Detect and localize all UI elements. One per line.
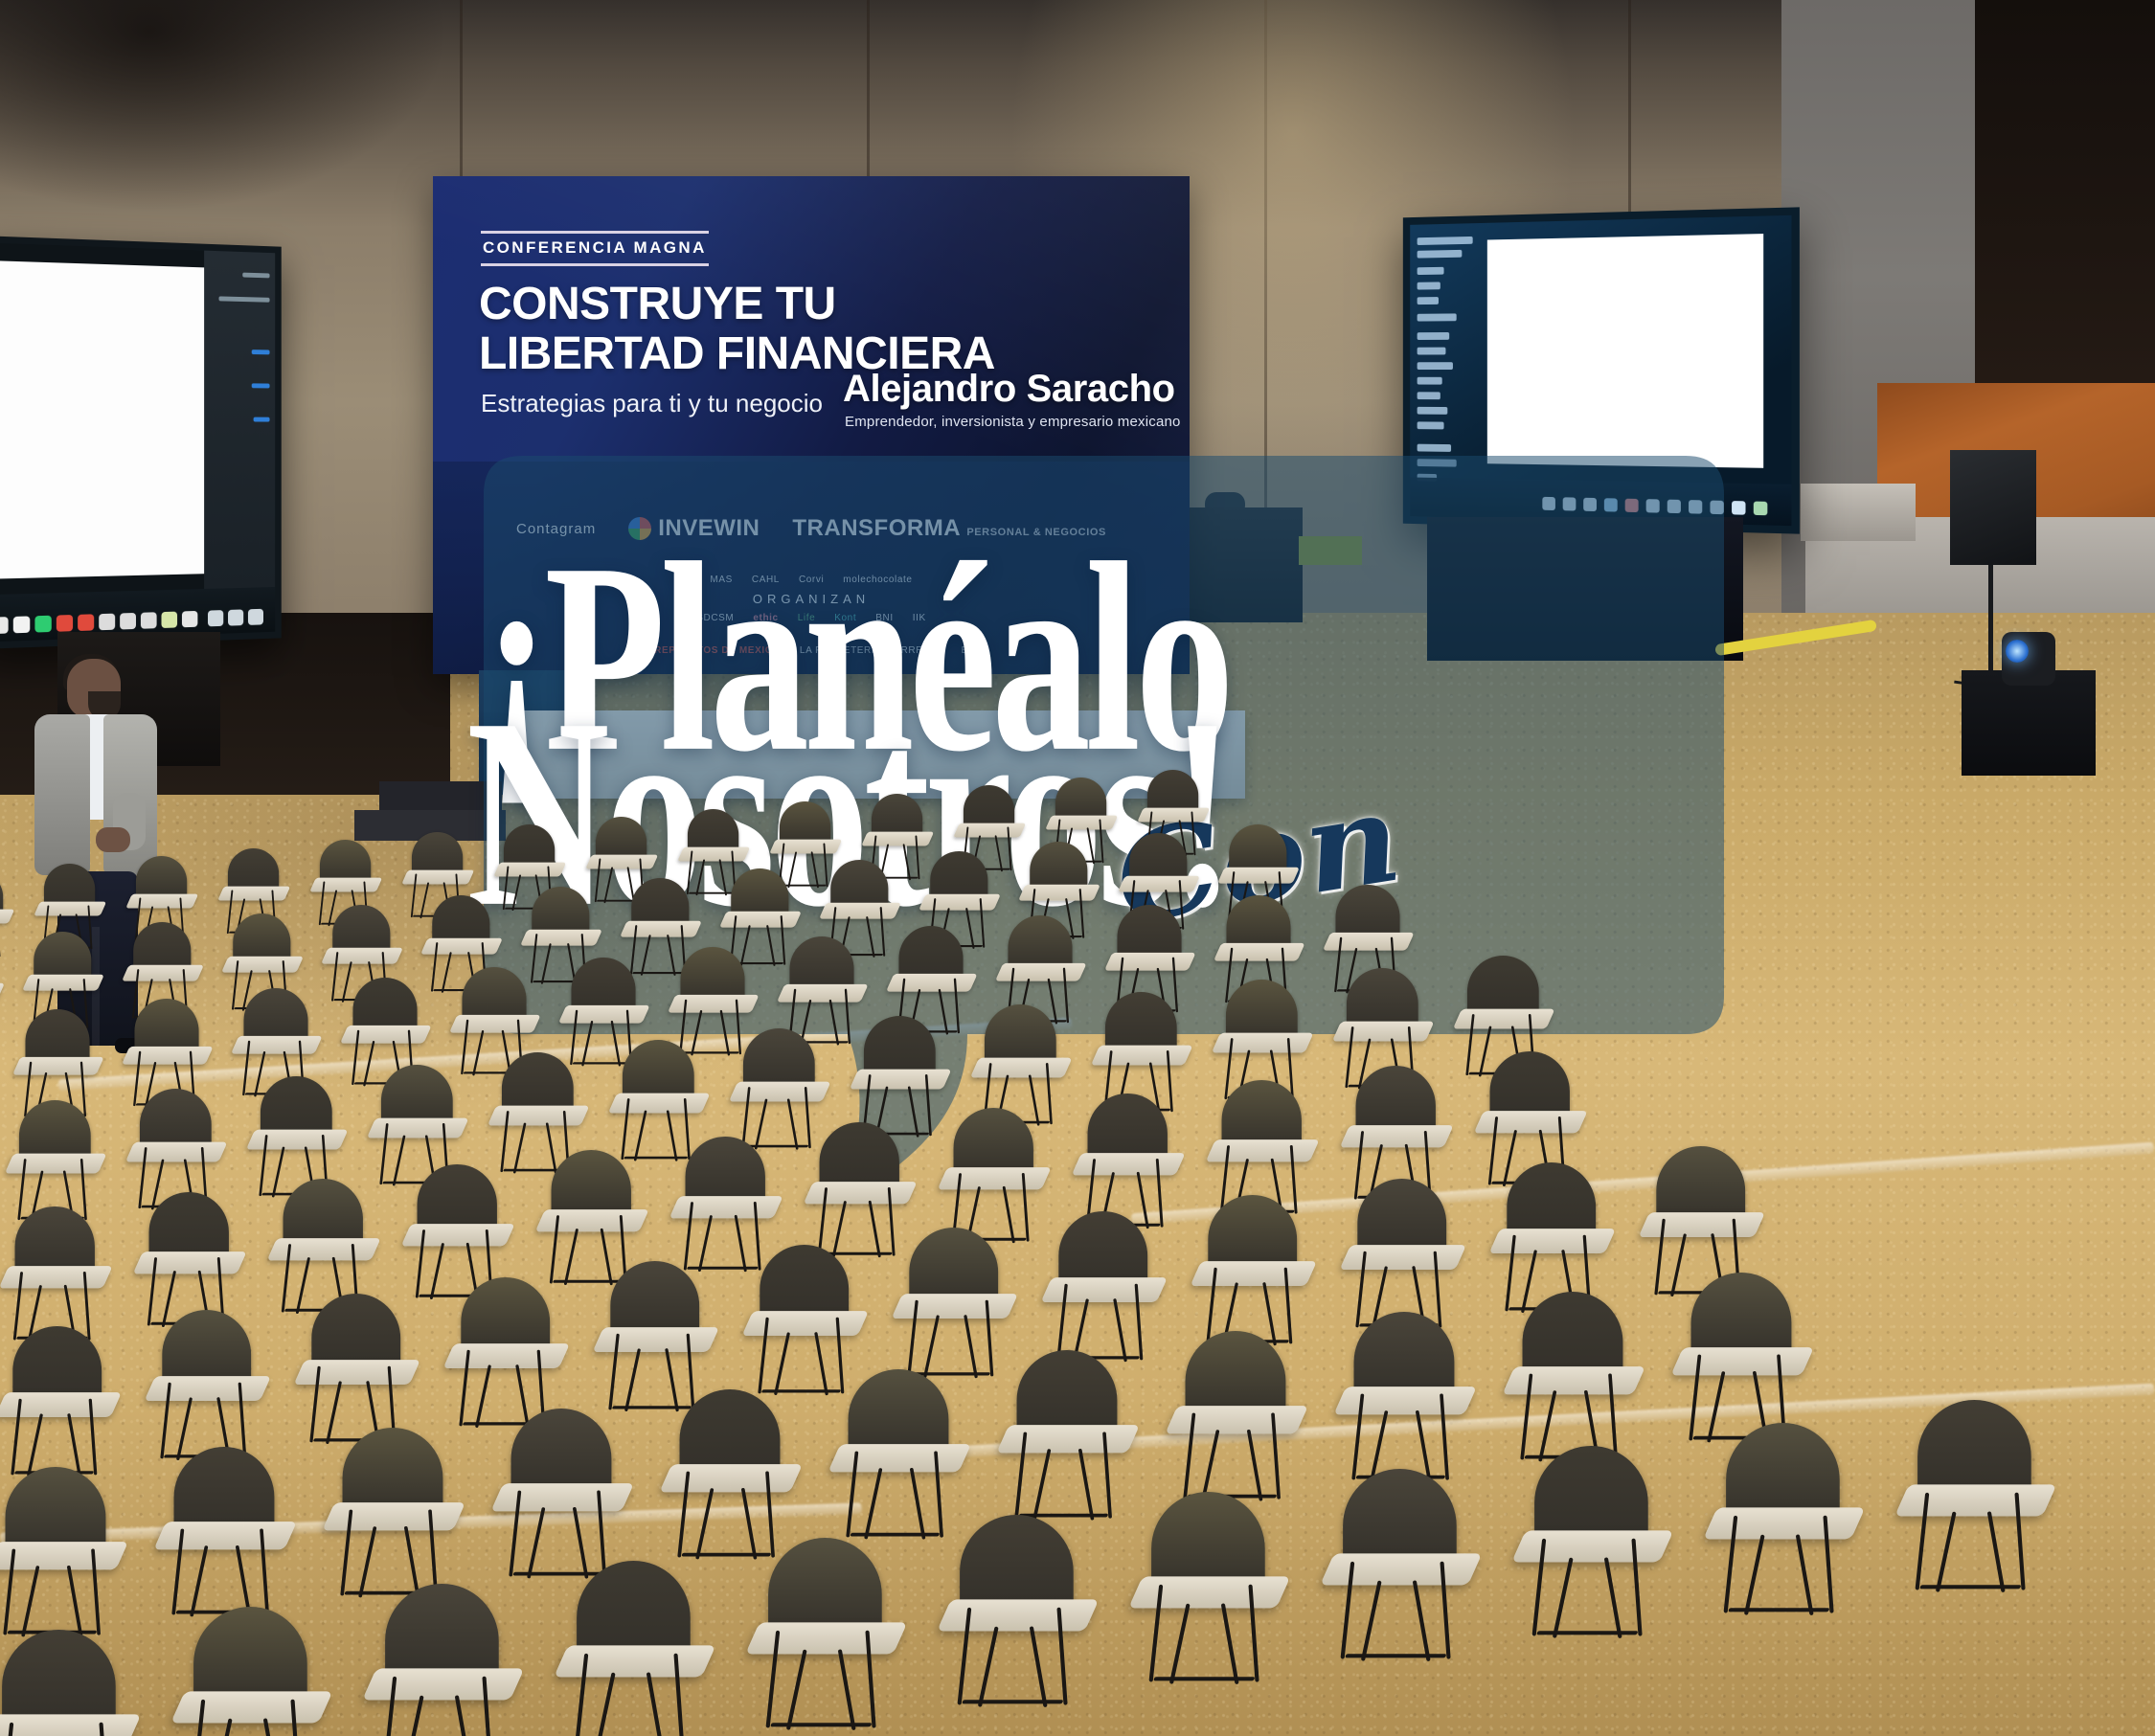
- chair: [0, 940, 4, 1041]
- chair: [556, 1561, 715, 1736]
- chair-back: [1335, 885, 1399, 940]
- sponsor-logo: REPUESTOS DE MEXICO: [654, 645, 781, 656]
- chair-back: [930, 851, 987, 901]
- chair-seat: [558, 1004, 650, 1023]
- sponsor-logo: CAHL: [752, 575, 780, 585]
- chair-seat: [294, 1360, 421, 1385]
- chair-seat: [1340, 1245, 1467, 1270]
- chair-back: [1691, 1273, 1792, 1359]
- chair-back: [228, 848, 279, 892]
- chair-back: [311, 1294, 400, 1370]
- speaker-role: Emprendedor, inversionista y empresario …: [845, 414, 1181, 430]
- chair: [0, 1206, 111, 1346]
- chair-back: [511, 1409, 612, 1495]
- chair-back: [680, 947, 744, 1003]
- chair-seat: [1639, 1212, 1766, 1237]
- chair-seat: [443, 1343, 571, 1368]
- chair-seat: [1072, 1153, 1186, 1175]
- backdrop-title: CONSTRUYE TU LIBERTAD FINANCIERA: [479, 280, 995, 379]
- sponsor-logo: Corvi: [799, 575, 824, 585]
- chair-back: [381, 1065, 453, 1126]
- chair-back: [872, 794, 922, 838]
- chair: [295, 1294, 420, 1449]
- chair: [1130, 1492, 1289, 1690]
- chair-leg: [624, 1348, 641, 1411]
- chair-seat: [401, 1224, 515, 1246]
- chair-seat: [659, 1464, 803, 1492]
- chair: [1341, 1179, 1465, 1334]
- backdrop-eyebrow: CONFERENCIA MAGNA: [481, 231, 709, 266]
- chair-seat: [861, 831, 934, 845]
- organizer-logo-contagram: Contagram: [516, 521, 596, 537]
- sponsor-logo: SDCSM: [696, 613, 734, 623]
- chair-leg: [766, 925, 776, 966]
- chair-leg: [1936, 1512, 1957, 1593]
- chair: [1191, 1195, 1316, 1350]
- chair-seat: [133, 1251, 247, 1274]
- chair-back: [2, 1630, 116, 1727]
- chair-seat: [0, 910, 14, 924]
- sponsor-logo: ethic: [753, 613, 778, 623]
- chair-seat: [995, 963, 1087, 981]
- chair-seat: [996, 1425, 1140, 1453]
- chair-seat: [122, 965, 204, 981]
- chair-seat: [554, 1646, 715, 1678]
- chair-back: [418, 1164, 497, 1233]
- invewin-pinwheel-icon: [628, 517, 651, 540]
- right-screen-stand: [1427, 517, 1743, 661]
- chair-seat: [1474, 1111, 1588, 1133]
- chair: [1042, 1211, 1167, 1366]
- chair-back: [577, 1561, 691, 1658]
- chair-leg: [787, 1098, 799, 1150]
- chair-seat: [892, 1295, 1019, 1319]
- desktop-icon-column: [1410, 223, 1487, 518]
- chair-seat: [769, 839, 842, 853]
- chair-seat: [1128, 1577, 1290, 1609]
- pa-speaker: [1950, 450, 2036, 565]
- chair-leg: [1361, 1581, 1382, 1662]
- chair-leg: [864, 1468, 882, 1540]
- chair-leg: [1030, 1627, 1048, 1708]
- chair-seat: [535, 1209, 649, 1231]
- chair-leg: [1032, 1449, 1051, 1521]
- chair-seat: [886, 974, 978, 992]
- chair-seat: [322, 1502, 465, 1530]
- chair-leg: [1987, 1512, 2006, 1593]
- chair-seat: [520, 930, 602, 946]
- chair-back: [140, 1089, 212, 1150]
- person-hands: [96, 827, 130, 852]
- chair-seat: [850, 1070, 952, 1090]
- chair-seat: [153, 1522, 297, 1549]
- chair: [146, 1310, 270, 1465]
- organizer-logo-invewin: INVEWIN: [628, 515, 760, 542]
- chair-back: [686, 1137, 765, 1206]
- chair-seat: [420, 938, 503, 955]
- chair-back: [1151, 1492, 1265, 1589]
- sponsor-logo: Kont: [834, 613, 856, 623]
- chair-back: [820, 1122, 899, 1191]
- chair-seat: [970, 1057, 1073, 1077]
- chair-seat: [677, 846, 750, 861]
- doorway: [1975, 0, 2155, 383]
- chair-seat: [1894, 1485, 2056, 1517]
- sponsor-logo: B: [962, 645, 968, 656]
- chair-seat: [1340, 1125, 1454, 1147]
- chair-back: [960, 1515, 1074, 1612]
- chair-seat: [490, 1483, 634, 1511]
- chair-leg: [774, 1332, 790, 1395]
- chair: [0, 1326, 121, 1481]
- chair-back: [193, 1607, 307, 1704]
- chair-leg: [869, 1200, 881, 1257]
- chair-seat: [1502, 1367, 1645, 1395]
- backdrop-sponsor-panel: Contagram INVEWIN TRANSFORMA PERSONAL & …: [433, 462, 1190, 674]
- chair-leg: [1221, 1604, 1239, 1685]
- chair-leg: [1553, 1558, 1574, 1639]
- chair-seat: [1212, 1033, 1314, 1053]
- chair-rail: [1345, 1655, 1446, 1658]
- chair-leg: [403, 1696, 424, 1736]
- chair: [747, 1538, 906, 1736]
- moving-head-lens-icon: [2006, 640, 2029, 663]
- chair-back: [1347, 968, 1418, 1029]
- chair: [1672, 1273, 1812, 1448]
- chair-seat: [217, 886, 290, 900]
- stage-step: [1801, 484, 1916, 541]
- chair-seat: [493, 863, 566, 877]
- chair-seat: [1045, 816, 1118, 830]
- chair-seat: [1191, 1261, 1318, 1286]
- chair: [1513, 1446, 1672, 1644]
- chair-leg: [814, 1332, 828, 1396]
- stage-step-upper: [379, 781, 502, 810]
- chair-seat: [340, 1026, 432, 1044]
- chair: [1322, 1469, 1481, 1667]
- chair-leg: [527, 1507, 545, 1579]
- chair-seat: [34, 902, 106, 916]
- av-road-case: [1188, 507, 1303, 622]
- chair: [1504, 1292, 1644, 1467]
- chair-rail: [770, 1724, 872, 1727]
- chair-seat: [937, 1600, 1099, 1632]
- chair-leg: [21, 1566, 39, 1637]
- chair-seat: [953, 823, 1026, 838]
- chair-leg: [1413, 1581, 1431, 1662]
- conference-hall-photo: CONFERENCIA MAGNA CONSTRUYE TU LIBERTAD …: [0, 0, 2155, 1736]
- chair-leg: [829, 1000, 840, 1046]
- chair-back: [1354, 1312, 1455, 1398]
- chair-back: [631, 878, 689, 928]
- chair-seat: [1323, 933, 1415, 951]
- screen-content-white: [0, 260, 204, 579]
- chair-seat: [745, 1623, 907, 1655]
- chair-back: [1534, 1446, 1648, 1544]
- chair-back: [743, 1028, 815, 1090]
- chair-back: [1357, 1179, 1446, 1255]
- chair-leg: [903, 844, 912, 880]
- chair-back: [1917, 1400, 2031, 1498]
- chair: [324, 1428, 464, 1603]
- chair-back: [1222, 1080, 1302, 1149]
- chair-leg: [646, 1673, 665, 1736]
- chair-back: [680, 1389, 781, 1476]
- chair-seat: [321, 948, 403, 964]
- chair-rail: [962, 1701, 1063, 1704]
- chair-seat: [0, 1542, 128, 1569]
- chair: [155, 1447, 295, 1622]
- chair-seat: [777, 984, 869, 1003]
- chair-leg: [910, 1468, 926, 1540]
- chair-seat: [1332, 1021, 1435, 1041]
- chair-back: [1208, 1195, 1297, 1272]
- chair-leg: [430, 1243, 444, 1299]
- chair-seat: [309, 878, 382, 892]
- projection-screen-left: [0, 236, 282, 649]
- chair-seat: [1511, 1531, 1673, 1563]
- chair-back: [1726, 1423, 1840, 1521]
- chair-seat: [938, 1167, 1052, 1189]
- chair-seat: [719, 912, 802, 928]
- chair-seat: [669, 1196, 783, 1218]
- chair-seat: [919, 893, 1001, 910]
- chair-rail: [1919, 1586, 2021, 1589]
- chair-seat: [819, 903, 901, 919]
- chair-back: [1017, 1350, 1118, 1436]
- chair-seat: [1041, 1277, 1168, 1302]
- sponsor-logo: BNI: [875, 613, 893, 623]
- chair: [1896, 1400, 2055, 1598]
- event-backdrop: CONFERENCIA MAGNA CONSTRUYE TU LIBERTAD …: [433, 176, 1190, 674]
- chair-back: [760, 1245, 849, 1321]
- chair-back: [6, 1467, 106, 1553]
- chair-back: [985, 1004, 1056, 1066]
- chair-seat: [1091, 1046, 1193, 1066]
- chair-seat: [1217, 867, 1300, 883]
- chair-seat: [231, 1036, 323, 1054]
- chair-rail: [1536, 1632, 1638, 1635]
- chair-seat: [620, 920, 702, 936]
- chair-seat: [1214, 942, 1305, 960]
- sponsor-logo: IIK: [913, 613, 926, 623]
- chair-seat: [22, 975, 104, 991]
- chair-seat: [593, 1327, 720, 1352]
- chair-leg: [67, 1565, 83, 1636]
- chair-leg: [978, 1627, 999, 1708]
- chair-back: [25, 1009, 89, 1065]
- chair-seat: [668, 995, 760, 1013]
- chair: [364, 1584, 523, 1736]
- organizer-logo-row: Contagram INVEWIN TRANSFORMA PERSONAL & …: [433, 515, 1190, 542]
- chair-leg: [1604, 1558, 1622, 1639]
- chair-back: [789, 936, 853, 992]
- chair-leg: [786, 1650, 807, 1731]
- chair-seat: [170, 1692, 332, 1724]
- chair: [939, 1515, 1098, 1713]
- chair-back: [780, 801, 830, 845]
- chair-back: [1343, 1469, 1457, 1567]
- organizer-logo-transforma-tagline: PERSONAL & NEGOCIOS: [966, 527, 1106, 538]
- chair-leg: [511, 874, 521, 911]
- chair-leg: [1201, 1430, 1219, 1501]
- chair-seat: [1320, 1554, 1482, 1586]
- chair-leg: [838, 1650, 856, 1731]
- chair-back: [343, 1428, 443, 1514]
- sponsor-logo: MAS: [710, 575, 732, 585]
- chair-seat: [449, 1015, 541, 1033]
- chair-seat: [246, 1130, 349, 1150]
- chair-seat: [221, 957, 304, 973]
- chair-back: [1356, 1066, 1436, 1135]
- chair-seat: [742, 1311, 870, 1336]
- chair: [939, 1108, 1050, 1248]
- chair: [492, 1409, 632, 1584]
- chair-seat: [1333, 1387, 1477, 1414]
- projection-screen-right: [1403, 207, 1800, 533]
- chair-leg: [595, 1673, 616, 1736]
- chair-seat: [401, 870, 474, 885]
- sponsor-logo: molechocolate: [843, 575, 912, 585]
- organizan-label: ORGANIZAN: [433, 592, 1190, 606]
- chair-seat: [1137, 808, 1210, 823]
- draped-table: [517, 710, 1245, 799]
- chair-leg: [472, 1030, 484, 1076]
- sponsor-row-bottom: REPUESTOS DE MEXICO LA FERRETERIA RRRING…: [433, 645, 1190, 656]
- chair-seat: [488, 1106, 590, 1126]
- chair-rail: [1153, 1678, 1255, 1681]
- chair-leg: [475, 1364, 491, 1428]
- chair-seat: [1670, 1347, 1814, 1375]
- chair-back: [571, 958, 635, 1013]
- screen-side-panel: [204, 251, 275, 589]
- chair-seat: [12, 1057, 104, 1075]
- sponsor-row-top: MAS CAHL Corvi molechocolate: [433, 575, 1190, 585]
- chair-back: [1229, 824, 1286, 874]
- sponsor-logo: LA FERRETERIA: [800, 645, 882, 656]
- chair-leg: [455, 1696, 473, 1736]
- chair-seat: [1703, 1508, 1865, 1540]
- av-green-case: [1299, 536, 1362, 565]
- chair: [1335, 1312, 1475, 1487]
- chair-back: [15, 1206, 95, 1275]
- chair-back: [768, 1538, 882, 1635]
- chair-back: [1226, 895, 1290, 951]
- chair-back: [332, 905, 390, 955]
- sponsor-logo: Life: [798, 613, 816, 623]
- chair-rail: [1728, 1609, 1829, 1612]
- chair: [1167, 1331, 1306, 1506]
- chair: [172, 1607, 331, 1736]
- chair-leg: [1796, 1535, 1814, 1616]
- chair-seat: [1018, 885, 1100, 901]
- sponsor-row-mid: SDCSM ethic Life Kont BNI IIK: [433, 613, 1190, 623]
- chair-rail: [850, 1533, 940, 1537]
- chair-seat: [122, 1047, 214, 1065]
- chair-leg: [1078, 1449, 1095, 1521]
- chair-seat: [125, 1141, 228, 1161]
- chair-seat: [585, 855, 658, 869]
- chair-leg: [1247, 1430, 1263, 1501]
- document-window: [1487, 234, 1763, 468]
- backdrop-title-line1: CONSTRUYE TU: [479, 280, 995, 329]
- chair: [0, 1630, 140, 1736]
- sponsor-logo: RRRING: [901, 645, 942, 656]
- chair-seat: [1104, 953, 1196, 971]
- chair-seat: [729, 1081, 831, 1101]
- chair-seat: [145, 1376, 272, 1401]
- chair-leg: [1169, 1604, 1191, 1685]
- chair-leg: [811, 851, 820, 888]
- chair-seat: [1489, 1229, 1617, 1253]
- chair-seat: [267, 1238, 381, 1260]
- chair-seat: [608, 1093, 711, 1114]
- chair-seat: [0, 1266, 113, 1288]
- chair-leg: [695, 1488, 714, 1560]
- chair-seat: [1206, 1139, 1320, 1161]
- chair-seat: [1453, 1009, 1555, 1029]
- chair-back: [1186, 1331, 1286, 1417]
- chair-back: [610, 1261, 699, 1338]
- light-road-case: [1962, 670, 2096, 776]
- chair-back: [461, 1277, 550, 1354]
- chair: [0, 1467, 126, 1642]
- chair: [998, 1350, 1138, 1525]
- organizer-logo-transforma: TRANSFORMA PERSONAL & NEGOCIOS: [792, 515, 1106, 542]
- chair-seat: [0, 1715, 141, 1736]
- chair-seat: [1118, 876, 1200, 892]
- chair-leg: [1744, 1535, 1765, 1616]
- person-jacket-left: [34, 714, 90, 875]
- chair-back: [284, 1179, 363, 1248]
- chair-back: [1656, 1146, 1745, 1223]
- chair-seat: [828, 1444, 971, 1472]
- chair-leg: [513, 1122, 527, 1173]
- chair-leg: [541, 943, 552, 984]
- chair-back: [134, 999, 198, 1054]
- chair-leg: [720, 1009, 731, 1055]
- chair-seat: [5, 1154, 107, 1174]
- chair-seat: [125, 893, 198, 908]
- speaker-name: Alejandro Saracho: [843, 368, 1175, 411]
- chair-back: [1507, 1162, 1596, 1239]
- chair-seat: [362, 1669, 524, 1701]
- chair: [1705, 1423, 1864, 1621]
- backdrop-subtitle: Estrategias para ti y tu negocio: [481, 389, 823, 418]
- chair-leg: [603, 867, 613, 903]
- chair-seat: [1165, 1406, 1308, 1433]
- chair-seat: [367, 1117, 469, 1138]
- chair-seat: [804, 1182, 918, 1204]
- chair-back: [385, 1584, 499, 1681]
